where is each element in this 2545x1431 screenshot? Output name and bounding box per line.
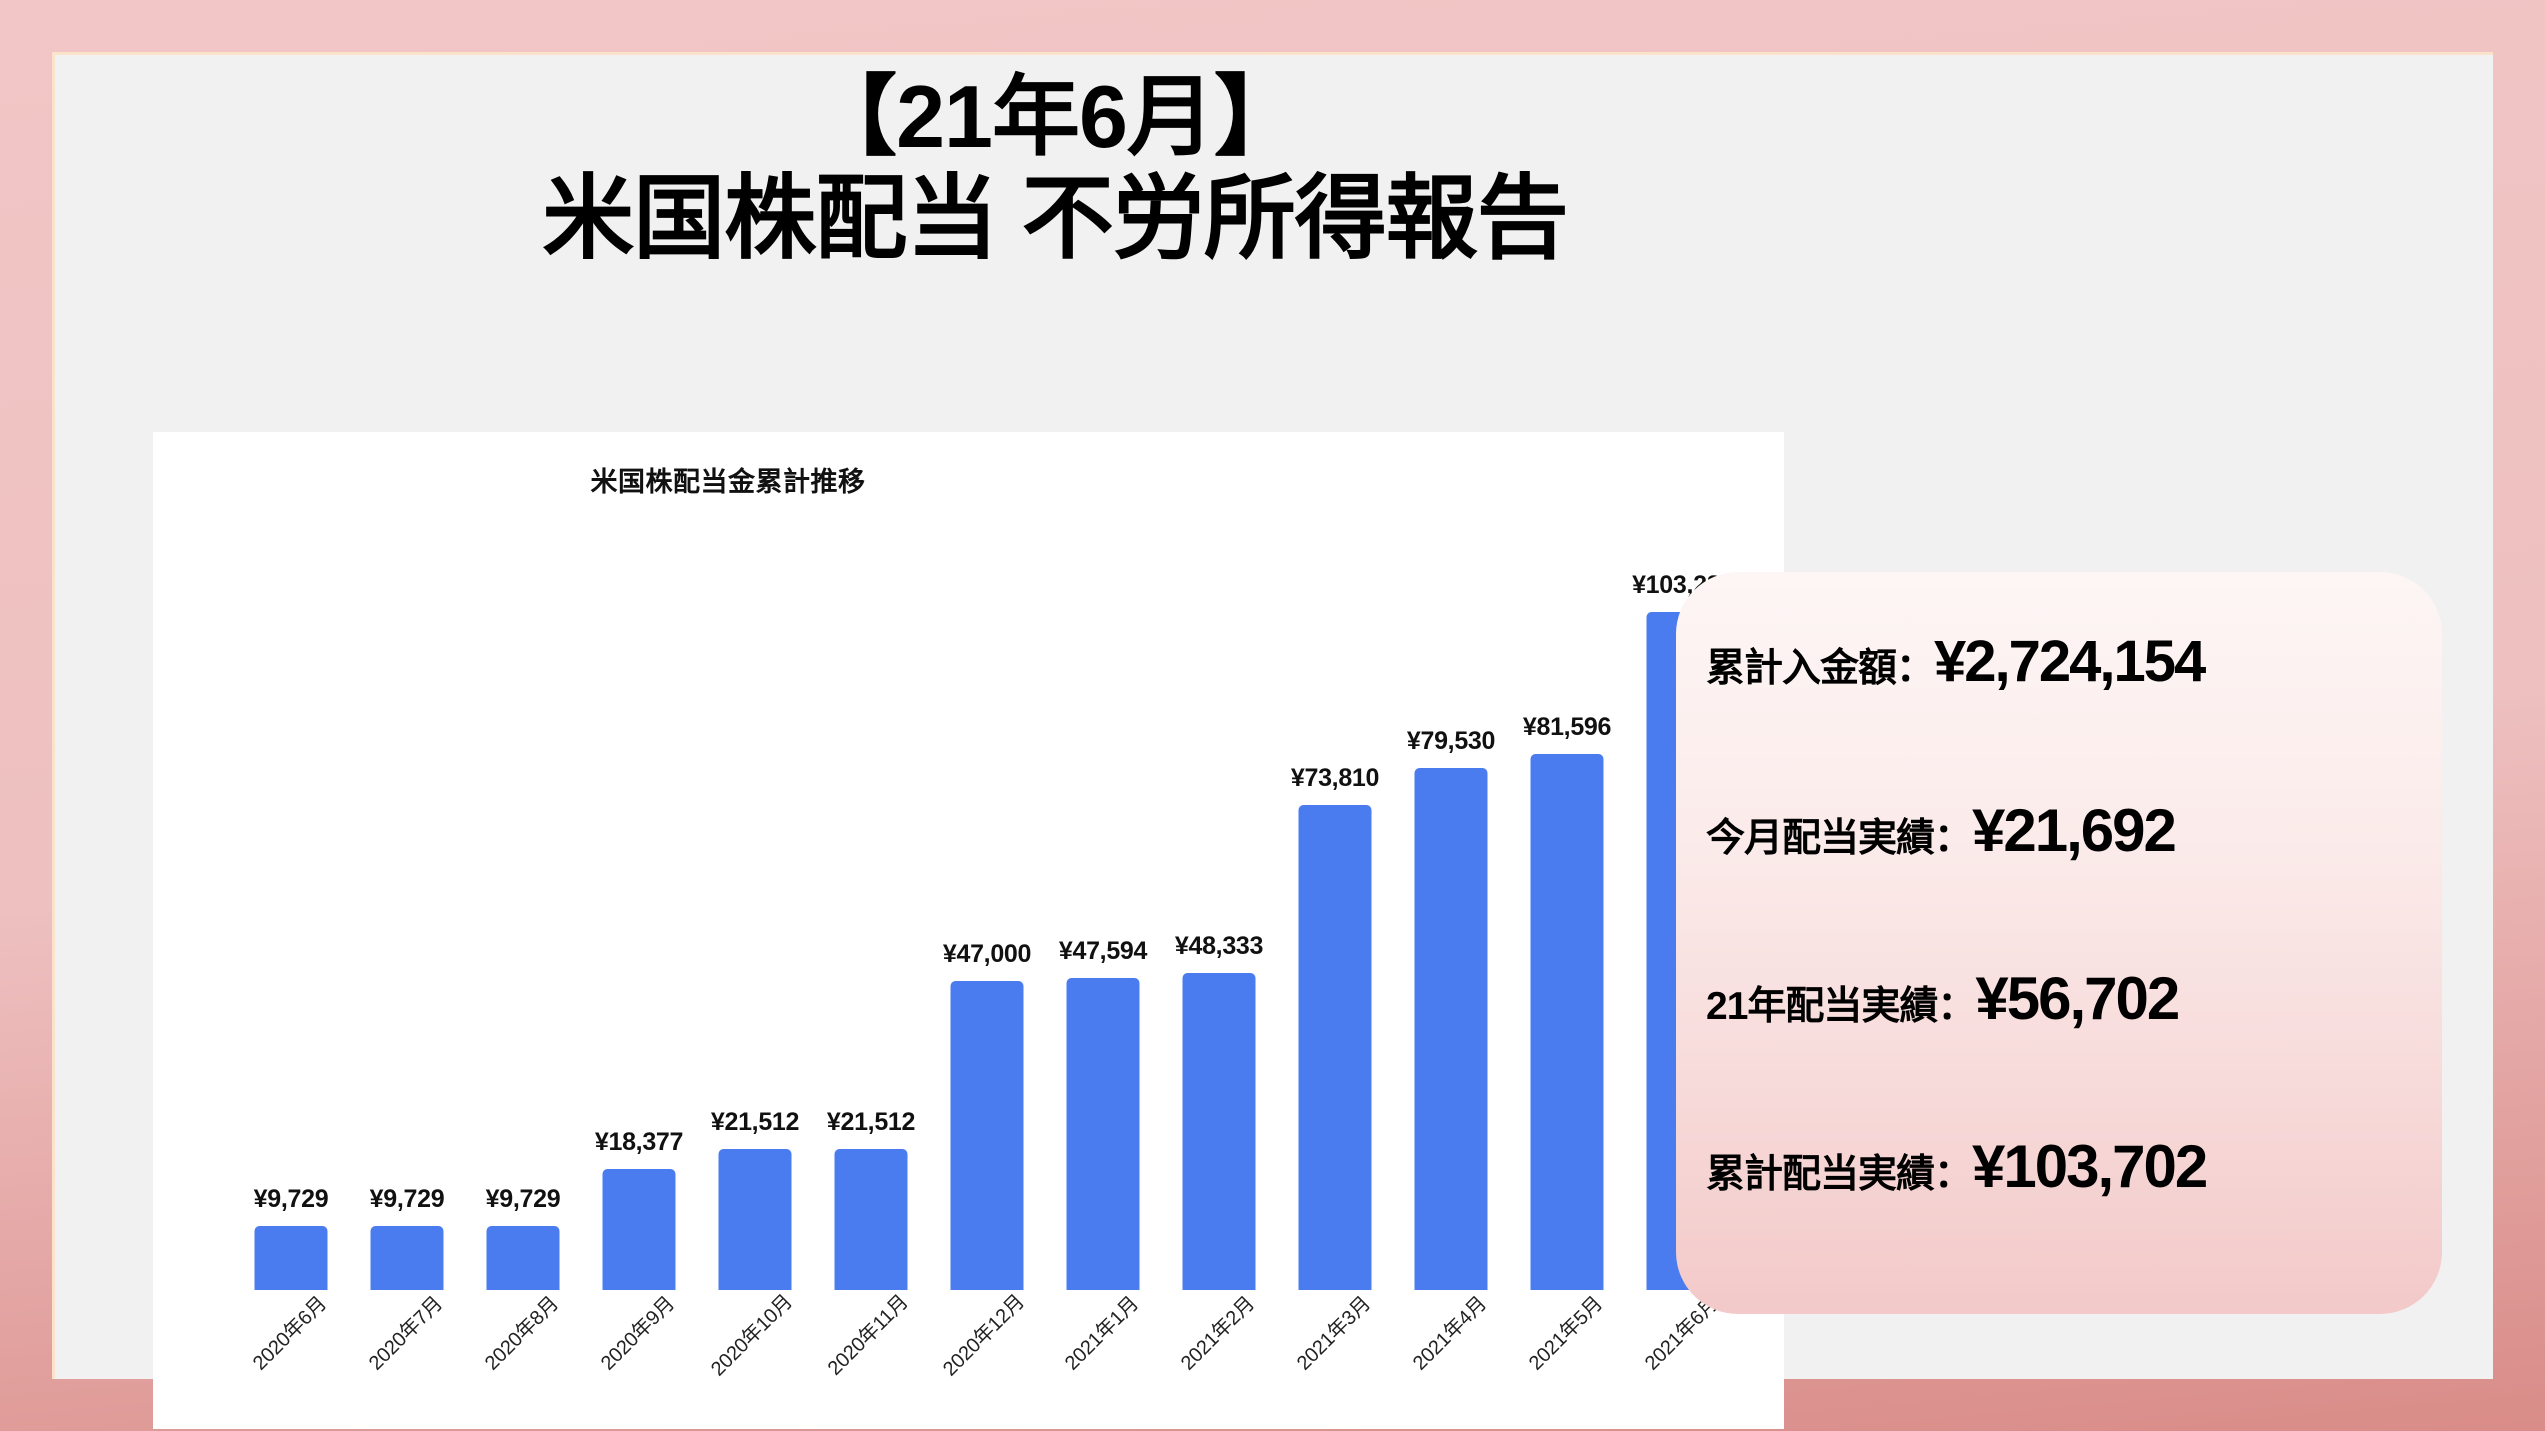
chart-card: 米国株配当金累計推移 ¥9,7292020年6月¥9,7292020年7月¥9,… <box>153 432 1784 1429</box>
bar-value-label: ¥21,512 <box>711 1108 799 1137</box>
bar-group[interactable]: ¥48,333 <box>1183 500 1256 1290</box>
bar-value-label: ¥81,596 <box>1523 713 1611 742</box>
bar-group[interactable]: ¥47,594 <box>1067 500 1140 1290</box>
bar-rect[interactable] <box>603 1169 676 1290</box>
bar-value-label: ¥9,729 <box>370 1185 445 1214</box>
bar-slot: ¥9,7292020年7月 <box>349 500 465 1290</box>
bar-rect[interactable] <box>1415 768 1488 1290</box>
bar-group[interactable]: ¥47,000 <box>951 500 1024 1290</box>
bar-slot: ¥21,5122020年11月 <box>813 500 929 1290</box>
stat-value: ¥21,692 <box>1972 796 2175 865</box>
x-axis-tick-label: 2020年7月 <box>361 1288 448 1375</box>
bar-slot: ¥18,3772020年9月 <box>581 500 697 1290</box>
bar-slot: ¥48,3332021年2月 <box>1161 500 1277 1290</box>
bar-rect[interactable] <box>1183 973 1256 1290</box>
stat-label: 累計入金額： <box>1706 637 1934 693</box>
bar-group[interactable]: ¥21,512 <box>719 500 792 1290</box>
bar-group[interactable]: ¥9,729 <box>255 500 328 1290</box>
stat-row: 累計入金額：¥2,724,154 <box>1676 628 2442 796</box>
slide-root: 【21年6月】 米国株配当 不労所得報告 米国株配当金累計推移 ¥9,72920… <box>0 0 2545 1431</box>
stat-label: 21年配当実績： <box>1706 975 1975 1031</box>
bar-rect[interactable] <box>1531 754 1604 1290</box>
bar-value-label: ¥48,333 <box>1175 932 1263 961</box>
bar-group[interactable]: ¥81,596 <box>1531 500 1604 1290</box>
bar-value-label: ¥18,377 <box>595 1128 683 1157</box>
x-axis-tick-label: 2021年4月 <box>1405 1288 1492 1375</box>
bar-value-label: ¥9,729 <box>254 1185 329 1214</box>
bar-rect[interactable] <box>719 1149 792 1290</box>
chart-title: 米国株配当金累計推移 <box>153 460 1303 499</box>
bar-slot: ¥81,5962021年5月 <box>1509 500 1625 1290</box>
x-axis-tick-label: 2021年5月 <box>1521 1288 1608 1375</box>
stat-value: ¥103,702 <box>1972 1132 2206 1201</box>
bar-slot: ¥47,5942021年1月 <box>1045 500 1161 1290</box>
stat-value: ¥2,724,154 <box>1934 628 2204 695</box>
x-axis-tick-label: 2020年9月 <box>593 1288 680 1375</box>
x-axis-tick-label: 2020年8月 <box>477 1288 564 1375</box>
bar-chart-plot-area: ¥9,7292020年6月¥9,7292020年7月¥9,7292020年8月¥… <box>233 500 1741 1290</box>
bar-group[interactable]: ¥18,377 <box>603 500 676 1290</box>
stat-label: 今月配当実績： <box>1706 807 1972 863</box>
stat-row: 21年配当実績：¥56,702 <box>1676 964 2442 1132</box>
bar-rect[interactable] <box>1299 805 1372 1290</box>
bar-value-label: ¥73,810 <box>1291 764 1379 793</box>
title-line-1: 【21年6月】 <box>55 67 2055 167</box>
bar-rect[interactable] <box>835 1149 908 1290</box>
x-axis-tick-label: 2020年10月 <box>703 1286 798 1381</box>
stat-value: ¥56,702 <box>1975 964 2178 1033</box>
bar-value-label: ¥79,530 <box>1407 727 1495 756</box>
x-axis-tick-label: 2021年3月 <box>1289 1288 1376 1375</box>
bar-group[interactable]: ¥9,729 <box>487 500 560 1290</box>
x-axis-tick-label: 2020年12月 <box>935 1286 1030 1381</box>
x-axis-tick-label: 2020年6月 <box>245 1288 332 1375</box>
bar-rect[interactable] <box>255 1226 328 1290</box>
title-line-2: 米国株配当 不労所得報告 <box>55 167 2055 272</box>
bar-rect[interactable] <box>951 981 1024 1290</box>
bar-value-label: ¥47,594 <box>1059 937 1147 966</box>
bar-group[interactable]: ¥73,810 <box>1299 500 1372 1290</box>
stat-row: 今月配当実績：¥21,692 <box>1676 796 2442 964</box>
bar-rect[interactable] <box>487 1226 560 1290</box>
bar-slot: ¥9,7292020年6月 <box>233 500 349 1290</box>
summary-stats-card: 累計入金額：¥2,724,154今月配当実績：¥21,69221年配当実績：¥5… <box>1676 572 2442 1314</box>
bar-value-label: ¥9,729 <box>486 1185 561 1214</box>
bar-value-label: ¥21,512 <box>827 1108 915 1137</box>
bar-rect[interactable] <box>1067 978 1140 1290</box>
bar-group[interactable]: ¥9,729 <box>371 500 444 1290</box>
bar-slot: ¥79,5302021年4月 <box>1393 500 1509 1290</box>
bar-slot: ¥47,0002020年12月 <box>929 500 1045 1290</box>
stat-row: 累計配当実績：¥103,702 <box>1676 1132 2442 1300</box>
bar-value-label: ¥47,000 <box>943 940 1031 969</box>
bar-rect[interactable] <box>371 1226 444 1290</box>
page-title: 【21年6月】 米国株配当 不労所得報告 <box>55 67 2055 272</box>
bar-group[interactable]: ¥21,512 <box>835 500 908 1290</box>
bar-slot: ¥9,7292020年8月 <box>465 500 581 1290</box>
x-axis-tick-label: 2021年1月 <box>1057 1288 1144 1375</box>
stat-label: 累計配当実績： <box>1706 1143 1972 1199</box>
x-axis-tick-label: 2020年11月 <box>820 1287 914 1381</box>
bar-slot: ¥73,8102021年3月 <box>1277 500 1393 1290</box>
bar-group[interactable]: ¥79,530 <box>1415 500 1488 1290</box>
x-axis-tick-label: 2021年2月 <box>1173 1288 1260 1375</box>
bar-slot: ¥21,5122020年10月 <box>697 500 813 1290</box>
